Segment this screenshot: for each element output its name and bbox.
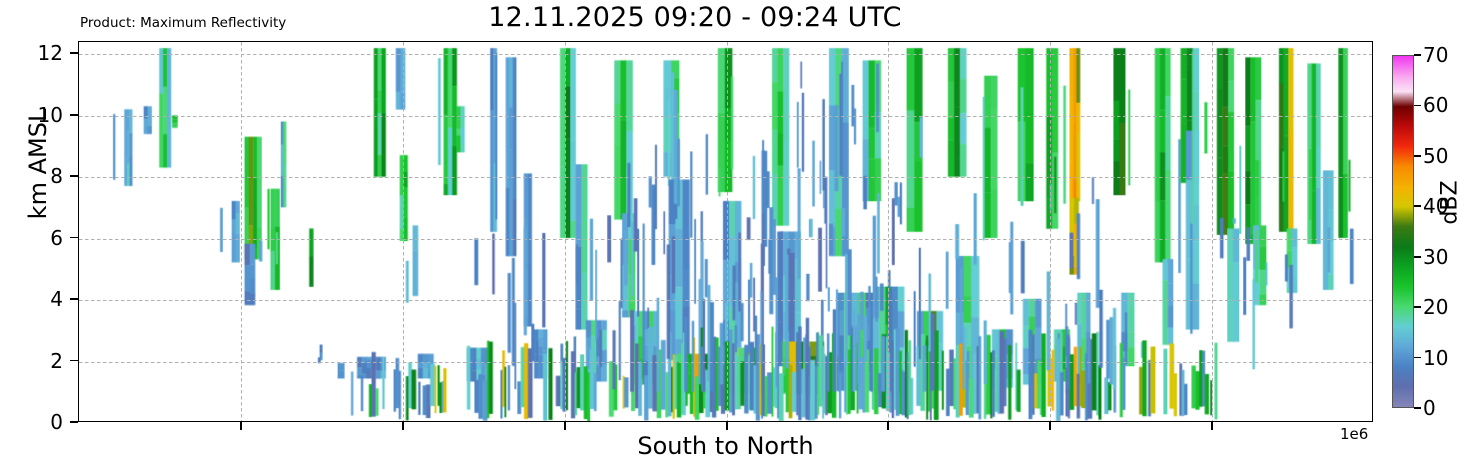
gridline-horizontal bbox=[79, 300, 1372, 301]
y-tick-mark bbox=[70, 237, 78, 239]
gridline-vertical bbox=[403, 42, 404, 421]
x-tick-mark bbox=[402, 422, 404, 430]
gridline-vertical bbox=[565, 42, 566, 421]
colorbar-tick-mark bbox=[1414, 205, 1421, 207]
colorbar-tick-mark bbox=[1414, 54, 1421, 56]
x-tick-mark bbox=[1211, 422, 1213, 430]
x-axis-label: South to North bbox=[78, 432, 1373, 460]
colorbar-tick-mark bbox=[1414, 155, 1421, 157]
y-tick-label: 0 bbox=[50, 410, 63, 434]
colorbar-label: dBZ bbox=[1438, 143, 1463, 263]
colorbar-tick-mark bbox=[1414, 407, 1421, 409]
colorbar-tick-label: 70 bbox=[1423, 43, 1448, 67]
radar-cross-section-figure: 12.11.2025 09:20 - 09:24 UTC Product: Ma… bbox=[0, 0, 1482, 470]
colorbar-tick-mark bbox=[1414, 306, 1421, 308]
x-tick-mark bbox=[1049, 422, 1051, 430]
colorbar-tick-mark bbox=[1414, 256, 1421, 258]
colorbar-gradient bbox=[1393, 56, 1413, 407]
y-tick-mark bbox=[70, 360, 78, 362]
gridline-horizontal bbox=[79, 177, 1372, 178]
gridline-horizontal bbox=[79, 239, 1372, 240]
gridline-horizontal bbox=[79, 116, 1372, 117]
y-tick-mark bbox=[70, 175, 78, 177]
gridline-vertical bbox=[1212, 42, 1213, 421]
gridline-vertical bbox=[888, 42, 889, 421]
product-label: Product: Maximum Reflectivity bbox=[80, 15, 286, 31]
y-axis-label: km AMSL bbox=[24, 74, 52, 254]
x-tick-mark bbox=[726, 422, 728, 430]
y-tick-label: 2 bbox=[50, 349, 63, 373]
x-axis-offset-text: 1e6 bbox=[1340, 425, 1368, 443]
x-tick-mark bbox=[564, 422, 566, 430]
plot-area[interactable] bbox=[78, 41, 1373, 422]
y-tick-mark bbox=[70, 114, 78, 116]
reflectivity-heatmap-canvas bbox=[79, 42, 1372, 421]
y-tick-mark bbox=[70, 52, 78, 54]
colorbar-tick-label: 60 bbox=[1423, 93, 1448, 117]
colorbar-tick-label: 0 bbox=[1423, 396, 1436, 420]
y-tick-label: 4 bbox=[50, 287, 63, 311]
y-tick-label: 8 bbox=[50, 164, 63, 188]
gridline-vertical bbox=[1050, 42, 1051, 421]
gridline-vertical bbox=[241, 42, 242, 421]
x-tick-mark bbox=[240, 422, 242, 430]
colorbar[interactable] bbox=[1392, 55, 1414, 408]
colorbar-tick-label: 20 bbox=[1423, 295, 1448, 319]
colorbar-tick-label: 10 bbox=[1423, 346, 1448, 370]
colorbar-tick-mark bbox=[1414, 357, 1421, 359]
x-tick-mark bbox=[887, 422, 889, 430]
gridline-vertical bbox=[727, 42, 728, 421]
gridline-horizontal bbox=[79, 362, 1372, 363]
y-tick-mark bbox=[70, 421, 78, 423]
colorbar-tick-mark bbox=[1414, 105, 1421, 107]
y-tick-label: 6 bbox=[50, 226, 63, 250]
gridline-horizontal bbox=[79, 54, 1372, 55]
y-tick-mark bbox=[70, 298, 78, 300]
y-tick-label: 12 bbox=[38, 41, 63, 65]
